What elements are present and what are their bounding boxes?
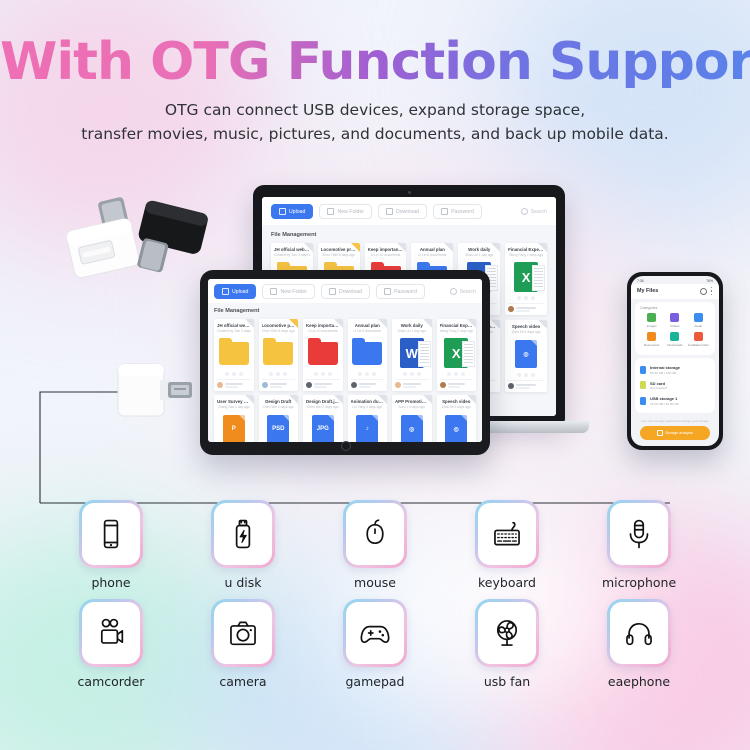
card-corner <box>491 243 500 252</box>
phone-storage-card: Internal storage54.32 GB / 128 GBSD card… <box>635 358 715 413</box>
file-card-icon: W <box>395 336 429 370</box>
file-card-subtitle: Chen Wei 2 days ago <box>262 405 296 409</box>
file-card-meta <box>516 384 544 389</box>
tablet-download-button[interactable]: Download <box>321 284 370 299</box>
tile-frame <box>211 500 275 568</box>
tablet-file-body: File Management JH official website...Cr… <box>208 303 482 442</box>
page-subtitle: OTG can connect USB devices, expand stor… <box>0 98 750 146</box>
device-tile-camcorder[interactable]: camcorder <box>74 599 148 689</box>
camera-icon <box>214 602 272 664</box>
card-corner <box>538 320 547 329</box>
category-item[interactable]: Documents <box>640 332 663 347</box>
upload-button-label: Upload <box>289 209 305 215</box>
file-card[interactable]: Speech videoZhou Mi 5 days ago◎ <box>437 395 477 442</box>
file-card-footer <box>262 379 296 388</box>
tablet-screen: Upload New Folder Download Password <box>208 279 482 442</box>
card-corner <box>334 395 343 404</box>
file-card[interactable]: JH official website...Created by Tom 3 d… <box>214 319 254 391</box>
file-card-subtitle: Zhou Yibin 5 days ago <box>321 253 357 257</box>
file-card-footer <box>306 379 340 388</box>
tablet-password-button[interactable]: Password <box>376 284 425 299</box>
file-card-subtitle: Chen Wei 2 days ago <box>306 405 340 409</box>
file-card-subtitle: Li Lei 6 documents <box>351 329 385 333</box>
file-card-subtitle: Liu Yang 3 days ago <box>351 405 385 409</box>
file-card-meta <box>359 383 385 388</box>
storage-item[interactable]: SD cardNot inserted <box>640 378 710 394</box>
avatar <box>351 382 357 388</box>
avatar <box>217 382 223 388</box>
status-battery: 76% <box>706 279 713 283</box>
file-card-icon <box>262 336 296 370</box>
avatar <box>262 382 268 388</box>
phone-screen: 7:36 76% My Files Categories ImagesVideo… <box>631 276 719 446</box>
file-card-subtitle: Zhang San 1 day ago <box>217 405 251 409</box>
avatar <box>395 382 401 388</box>
category-label: Images <box>640 324 663 328</box>
tablet-file-manager: Upload New Folder Download Password <box>208 279 482 442</box>
file-card-subtitle: Created by Tom 3 days ago <box>217 329 251 333</box>
laptop-camera <box>408 191 411 194</box>
device-tile-usb-fan[interactable]: usb fan <box>470 599 544 689</box>
storage-analysis-button[interactable]: Storage analysis <box>640 426 710 440</box>
device-tile-phone[interactable]: phone <box>74 500 148 590</box>
category-icon <box>647 332 656 341</box>
tablet-new-folder-label: New Folder <box>280 289 307 295</box>
file-card-actions[interactable] <box>306 372 340 376</box>
card-corner <box>491 320 500 329</box>
avatar <box>508 383 514 389</box>
tile-frame <box>211 599 275 667</box>
tile-frame <box>343 599 407 667</box>
file-type-icon: PSD <box>267 415 289 442</box>
card-corner <box>304 243 313 252</box>
file-card-icon: ◎ <box>395 412 429 442</box>
search-icon <box>450 288 457 295</box>
download-icon <box>386 208 393 215</box>
categories-label: Categories <box>640 306 710 310</box>
lock-icon <box>441 208 448 215</box>
headphones-icon <box>610 602 668 664</box>
document-icon: W <box>400 338 424 368</box>
file-card-icon: JPG <box>306 412 340 442</box>
phone-storage-note: Get more storage space and manage your s… <box>631 416 719 425</box>
download-button-label: Download <box>396 209 419 215</box>
category-icon <box>694 313 703 322</box>
tile-label: camera <box>206 674 280 689</box>
phone-categories-card: Categories ImagesVideosAudioDocumentsDow… <box>635 302 715 355</box>
device-tile-mouse[interactable]: mouse <box>338 500 412 590</box>
file-card[interactable]: APP Promotional VideoSun Li 4 days ago◎ <box>392 395 432 442</box>
folder-icon <box>352 342 382 365</box>
tile-frame <box>607 500 671 568</box>
file-card[interactable]: Speech videoZhou Mi 5 days ago◎ <box>505 320 547 392</box>
tile-label: eaephone <box>602 674 676 689</box>
category-icon <box>647 313 656 322</box>
tablet-section-title: File Management <box>214 308 476 314</box>
storage-text: USB storage 118.10 GB / 32.00 GB <box>650 396 679 406</box>
gamepad-icon <box>346 602 404 664</box>
tile-frame <box>343 500 407 568</box>
keyboard-icon <box>478 503 536 565</box>
file-card-actions[interactable] <box>440 372 474 376</box>
file-card-meta <box>225 383 251 388</box>
category-label: Installation files <box>687 343 710 347</box>
tablet-device: Upload New Folder Download Password <box>200 270 490 455</box>
tile-label: camcorder <box>74 674 148 689</box>
file-card-icon: X <box>440 336 474 370</box>
search-box[interactable]: Search <box>521 208 547 215</box>
card-corner <box>423 395 432 404</box>
tile-label: gamepad <box>338 674 412 689</box>
search-icon[interactable] <box>700 288 707 295</box>
file-type-icon: JPG <box>312 415 334 442</box>
phone-icon <box>82 503 140 565</box>
storage-analysis-label: Storage analysis <box>665 431 693 435</box>
file-card-icon: ◎ <box>508 337 544 371</box>
file-card-footer <box>395 379 429 388</box>
avatar <box>440 382 446 388</box>
password-button-label: Password <box>451 209 474 215</box>
file-card-actions[interactable] <box>395 372 429 376</box>
category-icon <box>670 332 679 341</box>
card-corner <box>334 319 343 328</box>
document-icon: X <box>444 338 468 368</box>
tile-label: u disk <box>206 575 280 590</box>
card-corner <box>289 319 298 328</box>
category-label: Audio <box>687 324 710 328</box>
file-card-actions[interactable] <box>508 373 544 377</box>
fan-icon <box>478 602 536 664</box>
file-card-footer <box>440 379 474 388</box>
tile-frame <box>475 599 539 667</box>
tablet-new-folder-button[interactable]: New Folder <box>262 284 315 299</box>
device-tile-u-disk[interactable]: u disk <box>206 500 280 590</box>
category-item[interactable]: Images <box>640 313 663 328</box>
file-type-icon: P <box>223 415 245 442</box>
download-icon <box>329 288 336 295</box>
upload-icon <box>279 208 286 215</box>
device-tile-microphone[interactable]: microphone <box>602 500 676 590</box>
tablet-home-button[interactable] <box>341 441 351 451</box>
tablet-search-placeholder: Search <box>460 289 476 295</box>
otg-adapter-black <box>120 196 220 284</box>
phone-app-title: My Files <box>637 288 696 294</box>
subtitle-line-2: transfer movies, music, pictures, and do… <box>0 122 750 146</box>
microphone-icon <box>610 503 668 565</box>
card-corner <box>467 319 476 328</box>
search-placeholder: Search <box>531 209 547 215</box>
file-card-footer <box>217 379 251 388</box>
product-infographic: With OTG Function Support OTG can connec… <box>0 0 750 750</box>
section-title: File Management <box>271 232 547 238</box>
file-card-footer <box>351 379 385 388</box>
file-card[interactable]: Annual planLi Lei 6 documents <box>348 319 388 391</box>
category-icon <box>694 332 703 341</box>
storage-icon <box>640 397 646 405</box>
download-button[interactable]: Download <box>378 204 427 219</box>
file-type-icon: ◎ <box>445 415 467 442</box>
file-card-icon: X <box>508 260 544 294</box>
file-card[interactable]: Design Draft.jpgChen Wei 2 days agoJPG <box>303 395 343 442</box>
card-corner <box>378 395 387 404</box>
tile-label: usb fan <box>470 674 544 689</box>
tile-frame <box>475 500 539 568</box>
category-item[interactable]: Installation files <box>687 332 710 347</box>
file-card-icon: PSD <box>262 412 296 442</box>
file-card-meta <box>516 307 544 312</box>
avatar <box>306 382 312 388</box>
file-card-subtitle: Zhou Yibin 5 days ago <box>262 329 296 333</box>
file-card-icon: P <box>217 412 251 442</box>
lock-icon <box>384 288 391 295</box>
storage-text: SD cardNot inserted <box>650 381 667 391</box>
supported-devices: phoneu diskmousekeyboardmicrophone camco… <box>0 500 750 698</box>
file-card-subtitle: Wang Fang 2 days ago <box>440 329 474 333</box>
categories-grid: ImagesVideosAudioDocumentsDownloadsInsta… <box>640 313 710 351</box>
upload-button[interactable]: Upload <box>271 204 313 219</box>
file-card-meta <box>270 383 296 388</box>
file-type-icon: ◎ <box>515 340 537 368</box>
device-tile-camera[interactable]: camera <box>206 599 280 689</box>
tile-frame <box>79 599 143 667</box>
card-corner <box>378 319 387 328</box>
status-time: 7:36 <box>637 279 644 283</box>
file-card-meta <box>314 383 340 388</box>
tablet-toolbar: Upload New Folder Download Password <box>208 279 482 303</box>
document-icon: X <box>514 262 538 292</box>
category-item[interactable]: Audio <box>687 313 710 328</box>
tile-label: microphone <box>602 575 676 590</box>
file-card-meta <box>403 383 429 388</box>
tablet-upload-button[interactable]: Upload <box>214 284 256 299</box>
file-card-subtitle: Li Lei 10 documents <box>368 253 404 257</box>
tile-label: mouse <box>338 575 412 590</box>
file-card[interactable]: Keep important...Li Lei 10 documents <box>303 319 343 391</box>
file-card-actions[interactable] <box>508 296 544 300</box>
tablet-password-label: Password <box>394 289 417 295</box>
tile-label: phone <box>74 575 148 590</box>
category-label: Downloads <box>663 343 686 347</box>
storage-icon <box>640 366 646 374</box>
overflow-menu-icon[interactable] <box>711 287 713 295</box>
file-card[interactable]: Financial Expenditure...Wang Fang 2 days… <box>437 319 477 391</box>
file-card-meta <box>448 383 474 388</box>
device-tile-gamepad[interactable]: gamepad <box>338 599 412 689</box>
file-card[interactable]: Financial Expenditure...Wang Fang 2 days… <box>505 243 547 315</box>
file-card-subtitle: Wang Fang 2 days ago <box>508 253 544 257</box>
storage-item[interactable]: Internal storage54.32 GB / 128 GB <box>640 362 710 378</box>
avatar <box>508 306 514 312</box>
file-card-footer <box>508 380 544 389</box>
file-card[interactable]: Design DraftChen Wei 2 days agoPSD <box>259 395 299 442</box>
category-item[interactable]: Videos <box>663 313 686 328</box>
otg-adapter-white-connected <box>108 358 202 422</box>
file-type-icon: ♪ <box>356 415 378 442</box>
file-type-icon: ◎ <box>401 415 423 442</box>
password-button[interactable]: Password <box>433 204 482 219</box>
card-corner <box>423 319 432 328</box>
tablet-download-label: Download <box>339 289 362 295</box>
tile-frame <box>79 500 143 568</box>
file-card[interactable]: Animation dubbingLiu Yang 3 days ago♪ <box>348 395 388 442</box>
category-label: Documents <box>640 343 663 347</box>
supported-devices-row-2: camcordercameragamepadusb faneaephone <box>0 599 750 689</box>
subtitle-line-1: OTG can connect USB devices, expand stor… <box>0 98 750 122</box>
device-tile-eaephone[interactable]: eaephone <box>602 599 676 689</box>
file-card-icon: ◎ <box>440 412 474 442</box>
search-icon <box>521 208 528 215</box>
category-item[interactable]: Downloads <box>663 332 686 347</box>
file-card-actions[interactable] <box>262 372 296 376</box>
card-corner <box>397 243 406 252</box>
tablet-file-row-1: JH official website...Created by Tom 3 d… <box>214 319 476 391</box>
file-card[interactable]: Locomotive projectZhou Yibin 5 days ago <box>259 319 299 391</box>
mouse-icon <box>346 503 404 565</box>
camcorder-icon <box>82 602 140 664</box>
folder-icon <box>308 342 338 365</box>
file-card-icon <box>351 336 385 370</box>
tablet-file-row-2: User Survey ReportZhang San 1 day agoPDe… <box>214 395 476 442</box>
card-corner <box>245 319 254 328</box>
file-card-subtitle: Sun Li 4 days ago <box>395 405 429 409</box>
supported-devices-row-1: phoneu diskmousekeyboardmicrophone <box>0 500 750 590</box>
file-card[interactable]: User Survey ReportZhang San 1 day agoP <box>214 395 254 442</box>
page-title: With OTG Function Support <box>0 36 750 88</box>
new-folder-button-label: New Folder <box>337 209 364 215</box>
file-card-subtitle: Li Lei 6 documents <box>414 253 450 257</box>
folder-icon <box>263 342 293 365</box>
file-card-subtitle: Zhou Mi 5 days ago <box>440 405 474 409</box>
category-icon <box>670 313 679 322</box>
file-card-subtitle: Zhao Lei 1 day ago <box>461 253 497 257</box>
file-card-icon <box>306 336 340 370</box>
new-folder-button[interactable]: New Folder <box>319 204 372 219</box>
category-label: Videos <box>663 324 686 328</box>
chart-icon <box>657 430 663 436</box>
file-card-actions[interactable] <box>351 372 385 376</box>
tablet-search-box[interactable]: Search <box>450 288 476 295</box>
phone-status-bar: 7:36 76% <box>631 276 719 284</box>
laptop-toolbar: Upload New Folder Download Password <box>262 197 556 225</box>
folder-plus-icon <box>327 208 334 215</box>
usb-flash-drive-icon <box>214 503 272 565</box>
file-card[interactable]: Work dailyZhao Lei 1 day agoW <box>392 319 432 391</box>
file-card-icon <box>217 336 251 370</box>
file-card-subtitle: Created by Tom 3 days ago <box>274 253 310 257</box>
card-corner <box>444 243 453 252</box>
upload-icon <box>222 288 229 295</box>
storage-list: Internal storage54.32 GB / 128 GBSD card… <box>640 362 710 409</box>
storage-icon <box>640 381 646 389</box>
folder-icon <box>219 342 249 365</box>
card-corner <box>467 395 476 404</box>
card-corner <box>538 243 547 252</box>
phone-app-header: My Files <box>631 284 719 299</box>
phone-device: 7:36 76% My Files Categories ImagesVideo… <box>627 272 723 450</box>
file-card-footer <box>508 303 544 312</box>
file-card-subtitle: Zhao Lei 1 day ago <box>395 329 429 333</box>
device-tile-keyboard[interactable]: keyboard <box>470 500 544 590</box>
card-corner <box>351 243 360 252</box>
storage-text: Internal storage54.32 GB / 128 GB <box>650 365 680 375</box>
file-card-subtitle: Li Lei 10 documents <box>306 329 340 333</box>
card-corner <box>245 395 254 404</box>
file-card-subtitle: Zhou Mi 5 days ago <box>508 330 544 334</box>
card-corner <box>289 395 298 404</box>
folder-plus-icon <box>270 288 277 295</box>
tile-frame <box>607 599 671 667</box>
tablet-upload-label: Upload <box>232 289 248 295</box>
file-card-actions[interactable] <box>217 372 251 376</box>
tile-label: keyboard <box>470 575 544 590</box>
file-card-icon: ♪ <box>351 412 385 442</box>
storage-item[interactable]: USB storage 118.10 GB / 32.00 GB <box>640 393 710 409</box>
